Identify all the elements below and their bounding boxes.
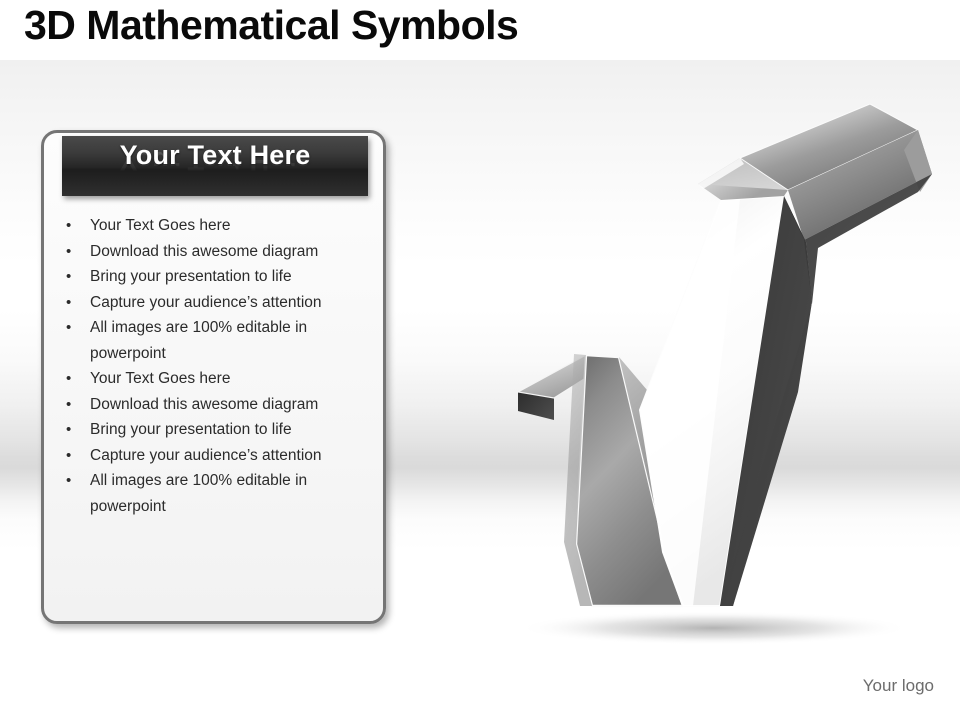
list-item: Download this awesome diagram xyxy=(60,392,372,418)
list-item: Download this awesome diagram xyxy=(60,239,372,265)
content-card: Your Text Here Your Text Here Your Text … xyxy=(41,130,386,624)
list-item: Your Text Goes here xyxy=(60,213,372,239)
list-item: Capture your audience’s attention xyxy=(60,290,372,316)
list-item: Capture your audience’s attention xyxy=(60,443,372,469)
list-item: Bring your presentation to life xyxy=(60,417,372,443)
slide-canvas: 3D Mathematical Symbols xyxy=(0,0,960,720)
list-item: Bring your presentation to life xyxy=(60,264,372,290)
title-bar: 3D Mathematical Symbols xyxy=(0,0,960,60)
list-item: Your Text Goes here xyxy=(60,366,372,392)
3d-radical-symbol xyxy=(488,92,960,652)
list-item: All images are 100% editable in powerpoi… xyxy=(60,315,372,366)
card-header-bar: Your Text Here Your Text Here xyxy=(62,136,368,196)
page-title: 3D Mathematical Symbols xyxy=(24,2,518,49)
symbol-ground-shadow xyxy=(518,611,910,645)
card-header-title: Your Text Here xyxy=(62,140,368,171)
bullet-list: Your Text Goes here Download this awesom… xyxy=(60,213,372,519)
logo-placeholder: Your logo xyxy=(863,676,934,696)
list-item: All images are 100% editable in powerpoi… xyxy=(60,468,372,519)
